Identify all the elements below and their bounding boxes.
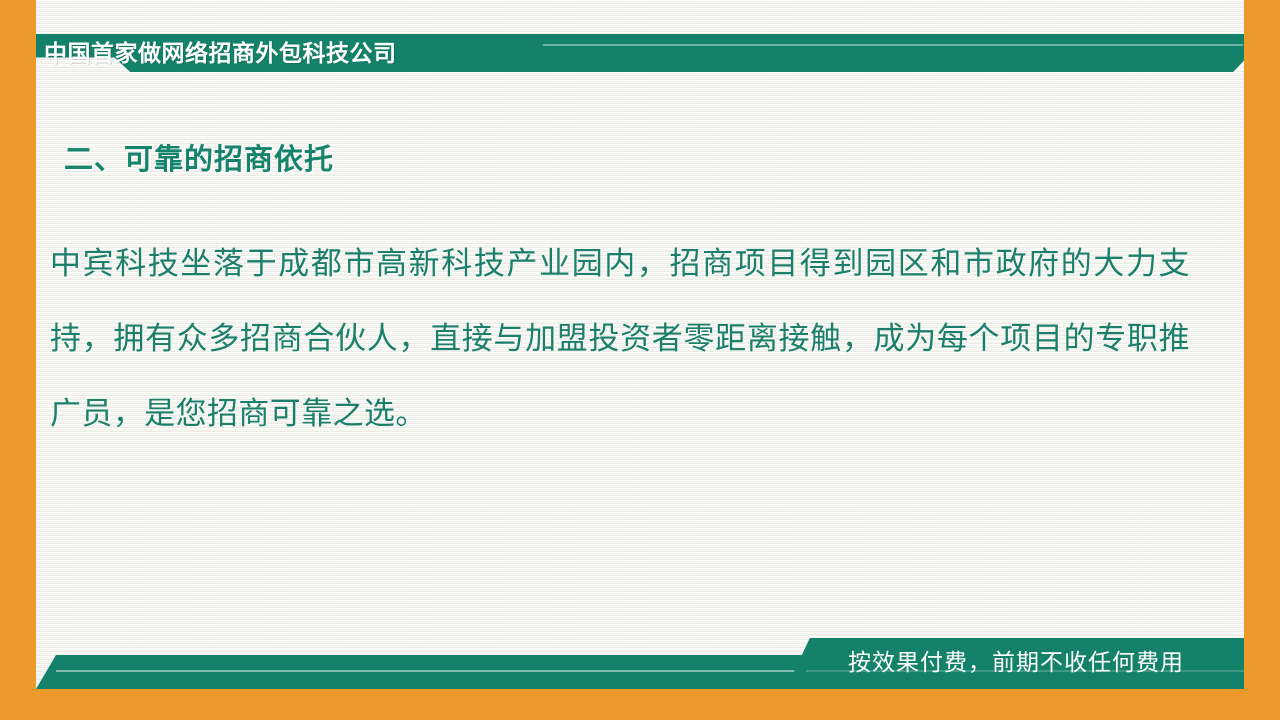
body-paragraph: 中宾科技坐落于成都市高新科技产业园内，招商项目得到园区和市政府的大力支持，拥有众… (50, 226, 1190, 451)
slide: 中国首家做网络招商外包科技公司 二、可靠的招商依托 中宾科技坐落于成都市高新科技… (0, 0, 1280, 720)
footer-tagline: 按效果付费，前期不收任何费用 (848, 645, 1184, 679)
header-divider-line (543, 44, 1243, 46)
section-title: 二、可靠的招商依托 (64, 136, 334, 178)
header-title: 中国首家做网络招商外包科技公司 (44, 37, 397, 69)
footer-thin-bar-line (56, 670, 802, 672)
footer-thin-bar (36, 655, 806, 689)
